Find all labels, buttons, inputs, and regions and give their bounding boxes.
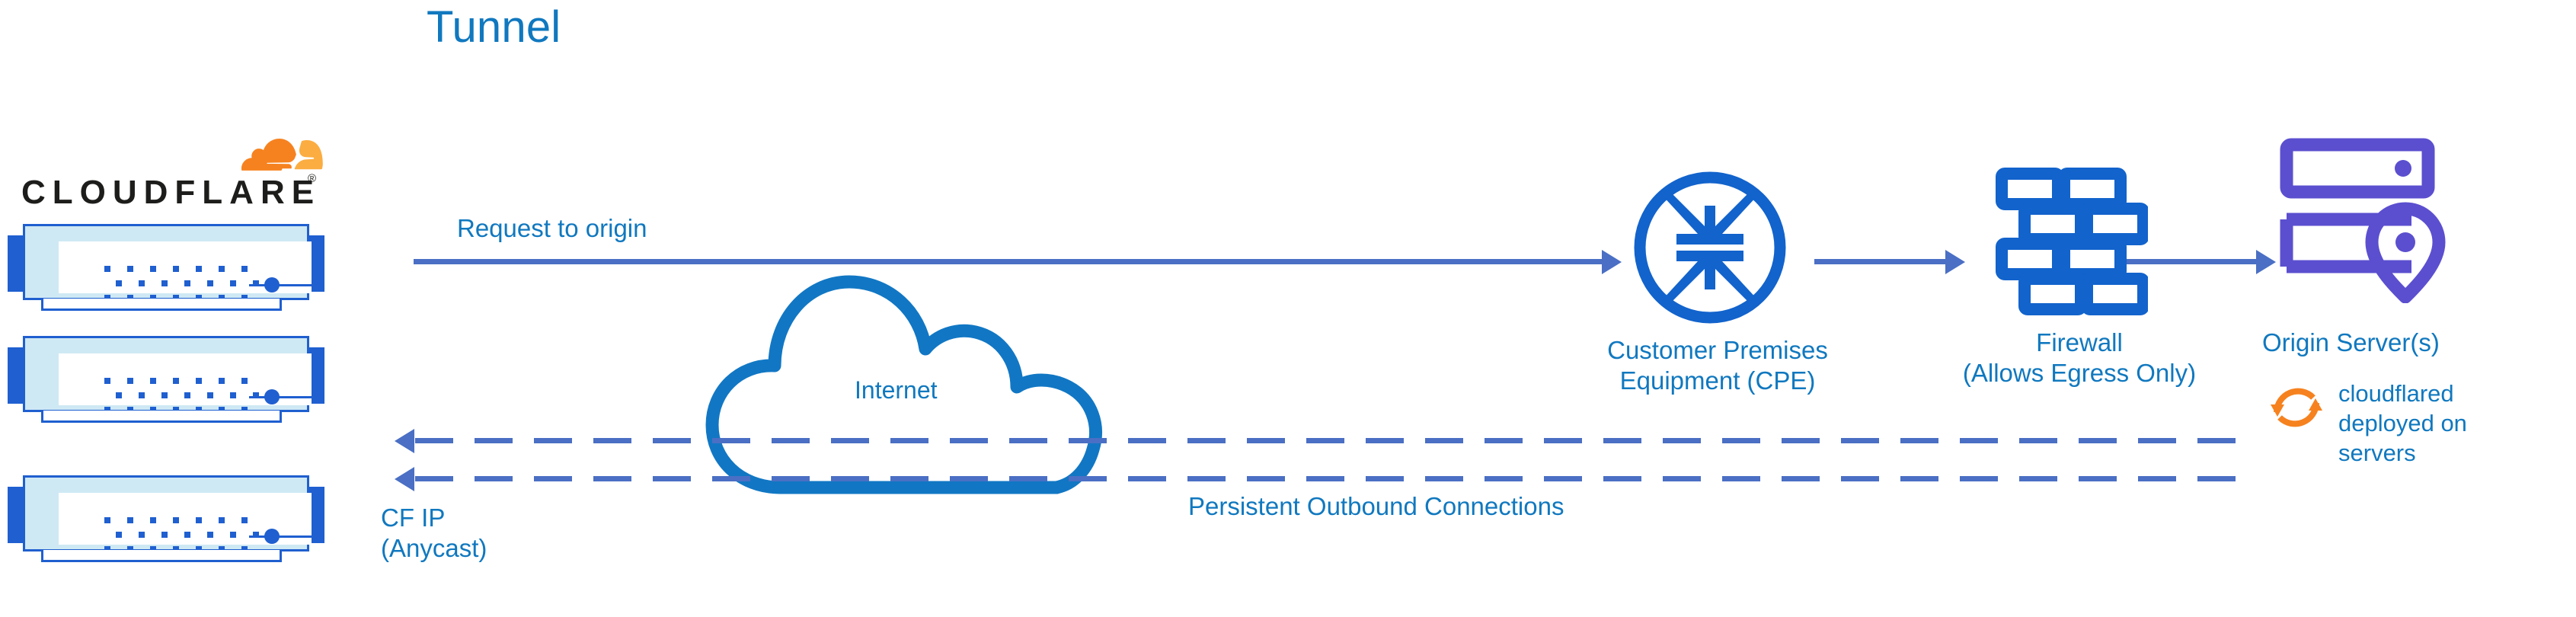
router-converging-arrows-icon xyxy=(1630,168,1790,328)
internet-label: Internet xyxy=(855,375,938,405)
server-port-dot xyxy=(150,266,156,272)
request-flow-arrowhead-1 xyxy=(1602,250,1622,274)
registered-trademark-icon: ® xyxy=(308,172,316,185)
server-bezel xyxy=(23,224,309,300)
diagram-canvas: Tunnel CLOUDFLARE ® xyxy=(0,0,2576,617)
server-port-dot xyxy=(230,392,236,398)
server-base xyxy=(41,550,282,562)
server-port-dot xyxy=(196,266,202,272)
server-ear-left xyxy=(8,235,24,292)
server-port-dot xyxy=(184,280,190,286)
page-title: Tunnel xyxy=(427,2,561,53)
persistent-outbound-connections-label: Persistent Outbound Connections xyxy=(1188,491,1564,522)
server-port-dot xyxy=(127,517,133,523)
server-port-dot xyxy=(219,378,225,384)
outbound-arrowhead-2 xyxy=(395,467,414,491)
server-port-dot xyxy=(219,266,225,272)
server-status-line xyxy=(249,396,324,398)
server-ear-left xyxy=(8,347,24,404)
server-port-dot xyxy=(127,266,133,272)
server-port-dot xyxy=(104,517,110,523)
server-port-dot xyxy=(116,392,122,398)
circular-sync-arrows-icon xyxy=(2266,377,2327,438)
server-port-dot xyxy=(207,532,213,538)
server-port-dot xyxy=(161,532,168,538)
server-port-dot xyxy=(173,378,179,384)
server-status-line xyxy=(249,284,324,286)
request-flow-arrowhead-3 xyxy=(2256,250,2276,274)
server-port-dot xyxy=(104,378,110,384)
request-flow-arrowhead-2 xyxy=(1945,250,1965,274)
server-port-dot xyxy=(184,392,190,398)
server-port-dot xyxy=(241,517,248,523)
server-port-dot xyxy=(219,517,225,523)
server-base xyxy=(41,299,282,311)
outbound-dashed-line-1 xyxy=(415,438,2243,443)
server-port-dot xyxy=(184,532,190,538)
brick-wall-icon xyxy=(1996,166,2148,318)
server-port-dot xyxy=(207,392,213,398)
server-faceplate xyxy=(59,241,312,293)
request-flow-line-segment-2 xyxy=(1814,259,1945,264)
outbound-dashed-line-2 xyxy=(415,476,2243,481)
cloud-outline-icon xyxy=(705,229,1184,495)
cloudflare-wordmark: CLOUDFLARE xyxy=(21,174,321,212)
server-port-dot xyxy=(150,517,156,523)
cf-ip-anycast-label: CF IP (Anycast) xyxy=(381,503,487,564)
server-port-dot xyxy=(116,532,122,538)
request-to-origin-label: Request to origin xyxy=(457,213,647,244)
server-bezel xyxy=(23,336,309,412)
edge-server-unit-3 xyxy=(6,472,326,561)
edge-server-unit-1 xyxy=(6,221,326,309)
firewall-label: Firewall (Allows Egress Only) xyxy=(1927,328,2232,388)
server-port-dot xyxy=(139,532,145,538)
server-base xyxy=(41,411,282,423)
server-port-dot xyxy=(116,280,122,286)
server-port-dot xyxy=(161,392,168,398)
server-faceplate xyxy=(59,493,312,545)
server-port-dot xyxy=(127,378,133,384)
server-port-dot xyxy=(196,378,202,384)
server-port-dot xyxy=(173,517,179,523)
outbound-arrowhead-1 xyxy=(395,429,414,453)
server-port-dot xyxy=(161,280,168,286)
cloudflared-label: cloudflared deployed on servers xyxy=(2338,379,2467,468)
cpe-label: Customer Premises Equipment (CPE) xyxy=(1558,335,1878,396)
server-port-dot xyxy=(230,532,236,538)
server-port-dot xyxy=(139,392,145,398)
server-port-dot xyxy=(150,378,156,384)
server-port-dot xyxy=(104,266,110,272)
server-port-dot xyxy=(241,378,248,384)
server-led-icon xyxy=(264,389,280,404)
server-port-dot xyxy=(173,266,179,272)
edge-server-unit-2 xyxy=(6,333,326,421)
server-status-line xyxy=(249,535,324,538)
server-port-dot xyxy=(139,280,145,286)
server-port-dot xyxy=(207,280,213,286)
server-port-dot xyxy=(241,266,248,272)
server-ear-left xyxy=(8,487,24,543)
server-led-icon xyxy=(264,277,280,293)
server-led-icon xyxy=(264,529,280,544)
server-faceplate xyxy=(59,353,312,405)
server-rack-with-location-pin-icon xyxy=(2277,136,2453,303)
server-port-dot xyxy=(196,517,202,523)
origin-server-label: Origin Server(s) xyxy=(2262,328,2440,358)
server-bezel xyxy=(23,475,309,551)
server-port-dot xyxy=(230,280,236,286)
